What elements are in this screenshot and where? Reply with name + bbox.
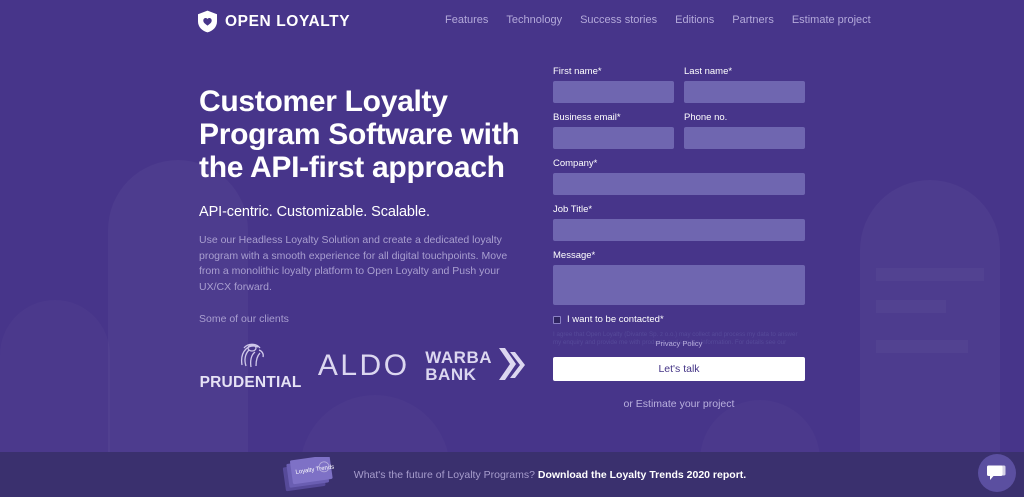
hero-subtitle: API-centric. Customizable. Scalable. [199, 204, 529, 220]
warba-chevrons-icon [495, 346, 529, 386]
prudential-crest-icon [229, 339, 273, 373]
main-nav: Features Technology Success stories Edit… [445, 14, 871, 26]
chat-bubble-icon [987, 464, 1007, 482]
banner-question: What's the future of Loyalty Programs? [354, 469, 535, 481]
field-company: Company* [553, 158, 805, 195]
job-title-label: Job Title* [553, 204, 805, 215]
report-thumbnail-icon: Loyalty Trends [278, 457, 340, 493]
company-label: Company* [553, 158, 805, 169]
nav-item-features[interactable]: Features [445, 14, 488, 26]
field-phone: Phone no. [684, 112, 805, 149]
phone-input[interactable] [684, 127, 805, 149]
company-input[interactable] [553, 173, 805, 195]
banner-text: What's the future of Loyalty Programs? D… [354, 469, 746, 481]
watermark-bar [876, 340, 968, 353]
job-title-input[interactable] [553, 219, 805, 241]
client-logo-aldo: ALDO [312, 349, 415, 383]
consent-checkbox[interactable] [553, 316, 561, 324]
site-header: OPEN LOYALTY Features Technology Success… [0, 0, 1024, 42]
logo-text: OPEN LOYALTY [225, 13, 350, 31]
hero-section: Customer Loyalty Program Software with t… [199, 85, 529, 295]
field-job-title: Job Title* [553, 204, 805, 241]
landing-page: OPEN LOYALTY Features Technology Success… [0, 0, 1024, 497]
field-last-name: Last name* [684, 66, 805, 103]
watermark-bar [876, 300, 946, 313]
submit-button[interactable]: Let's talk [553, 357, 805, 381]
watermark-bar [876, 268, 984, 281]
message-label: Message* [553, 250, 805, 261]
clients-label: Some of our clients [199, 313, 529, 325]
field-first-name: First name* [553, 66, 674, 103]
consent-label: I want to be contacted* [567, 314, 664, 325]
last-name-input[interactable] [684, 81, 805, 103]
business-email-label: Business email* [553, 112, 674, 123]
last-name-label: Last name* [684, 66, 805, 77]
nav-item-editions[interactable]: Editions [675, 14, 714, 26]
client-logo-list: PRUDENTIAL ALDO WARBA BANK [199, 339, 529, 392]
consent-checkbox-row[interactable]: I want to be contacted* [553, 314, 805, 325]
phone-label: Phone no. [684, 112, 805, 123]
shield-heart-logo-icon [197, 10, 218, 33]
page-title: Customer Loyalty Program Software with t… [199, 85, 524, 184]
client-logo-warba-bank: WARBA BANK [425, 346, 529, 386]
nav-item-estimate-project[interactable]: Estimate project [792, 14, 871, 26]
first-name-input[interactable] [553, 81, 674, 103]
contact-form: First name* Last name* Business email* P… [553, 66, 805, 410]
client-name-line2: BANK [425, 366, 492, 383]
promo-banner: Loyalty Trends What's the future of Loya… [0, 452, 1024, 497]
client-logo-prudential: PRUDENTIAL [199, 339, 302, 392]
chat-widget-button[interactable] [978, 454, 1016, 492]
banner-download-link[interactable]: Download the Loyalty Trends 2020 report. [538, 469, 746, 481]
client-name: ALDO [318, 349, 410, 383]
hero-description: Use our Headless Loyalty Solution and cr… [199, 233, 524, 295]
field-message: Message* [553, 250, 805, 305]
nav-item-technology[interactable]: Technology [506, 14, 562, 26]
estimate-project-link[interactable]: or Estimate your project [553, 398, 805, 410]
first-name-label: First name* [553, 66, 674, 77]
logo[interactable]: OPEN LOYALTY [197, 10, 350, 33]
shield-watermark [860, 180, 1000, 497]
message-textarea[interactable] [553, 265, 805, 305]
nav-item-partners[interactable]: Partners [732, 14, 774, 26]
business-email-input[interactable] [553, 127, 674, 149]
field-business-email: Business email* [553, 112, 674, 149]
client-name-line1: WARBA [425, 349, 492, 366]
nav-item-success-stories[interactable]: Success stories [580, 14, 657, 26]
clients-section: Some of our clients PRUDENTIAL [199, 313, 529, 392]
client-name: PRUDENTIAL [200, 374, 302, 392]
